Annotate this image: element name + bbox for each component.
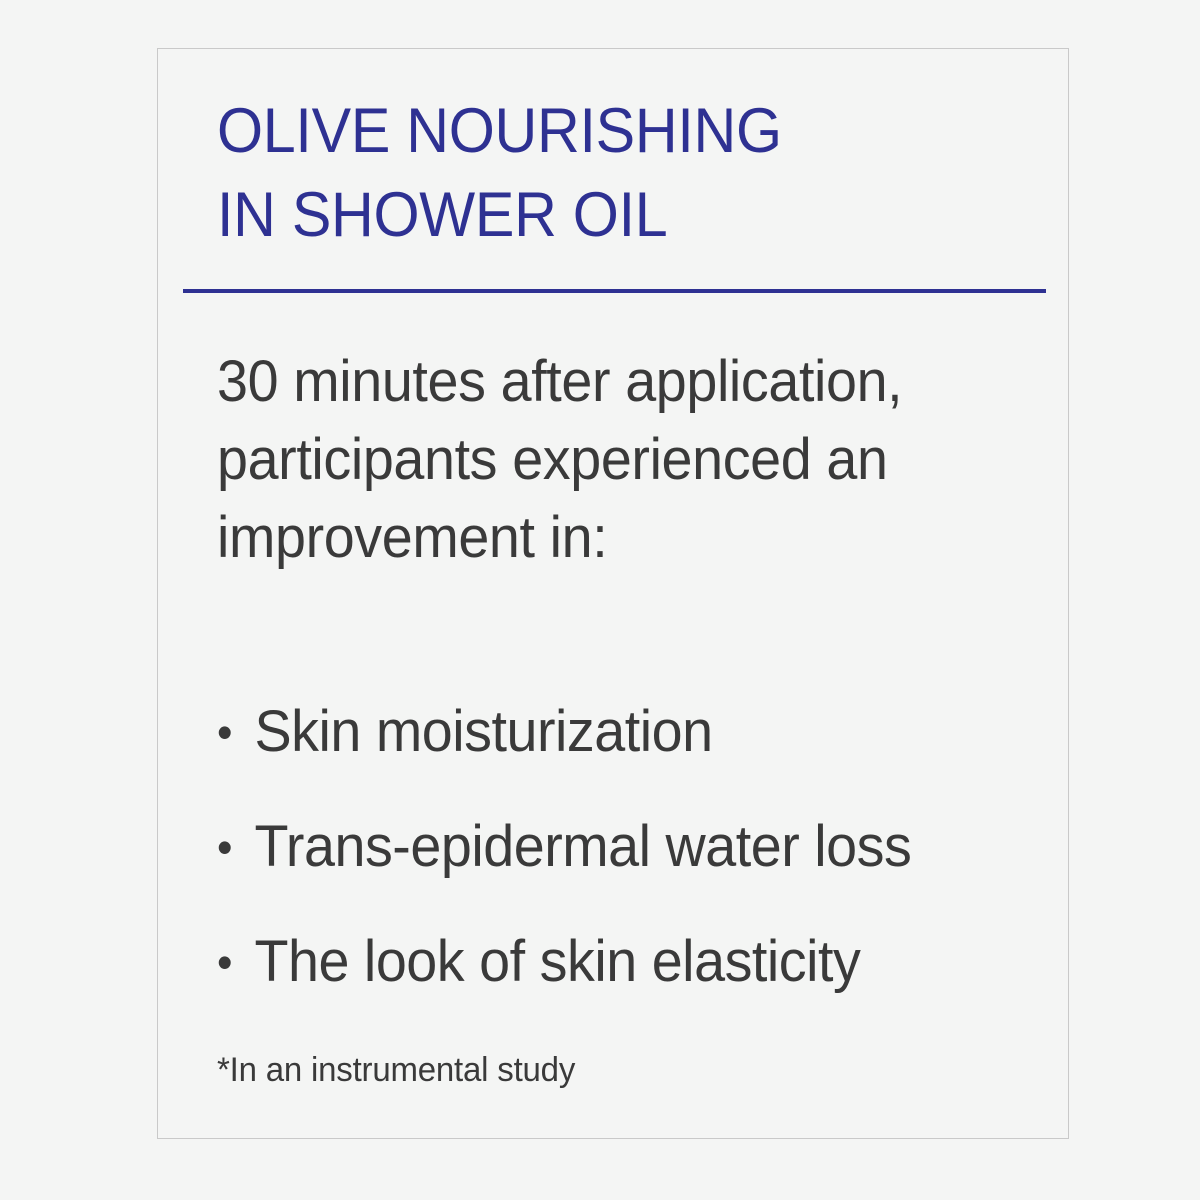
product-claim-card: Olive Nourishing In Shower Oil 30 minute… — [157, 48, 1069, 1139]
benefit-label: Skin moisturization — [254, 697, 712, 767]
list-item: •Skin moisturization — [217, 697, 1043, 812]
page-canvas: Olive Nourishing In Shower Oil 30 minute… — [0, 0, 1200, 1200]
benefit-label: The look of skin elasticity — [254, 927, 860, 997]
list-item: •Trans-epidermal water loss — [217, 812, 1043, 927]
bullet-icon: • — [217, 812, 254, 882]
benefit-label: Trans-epidermal water loss — [254, 812, 911, 882]
title-divider — [183, 289, 1046, 293]
list-item: •The look of skin elasticity — [217, 927, 1043, 1042]
benefit-list: •Skin moisturization •Trans-epidermal wa… — [217, 697, 1077, 1042]
bullet-icon: • — [217, 927, 254, 997]
card-footnote: *In an instrumental study — [217, 1049, 575, 1091]
card-body-text: 30 minutes after application, participan… — [217, 343, 975, 577]
bullet-icon: • — [217, 697, 254, 767]
card-title: Olive Nourishing In Shower Oil — [217, 89, 969, 257]
